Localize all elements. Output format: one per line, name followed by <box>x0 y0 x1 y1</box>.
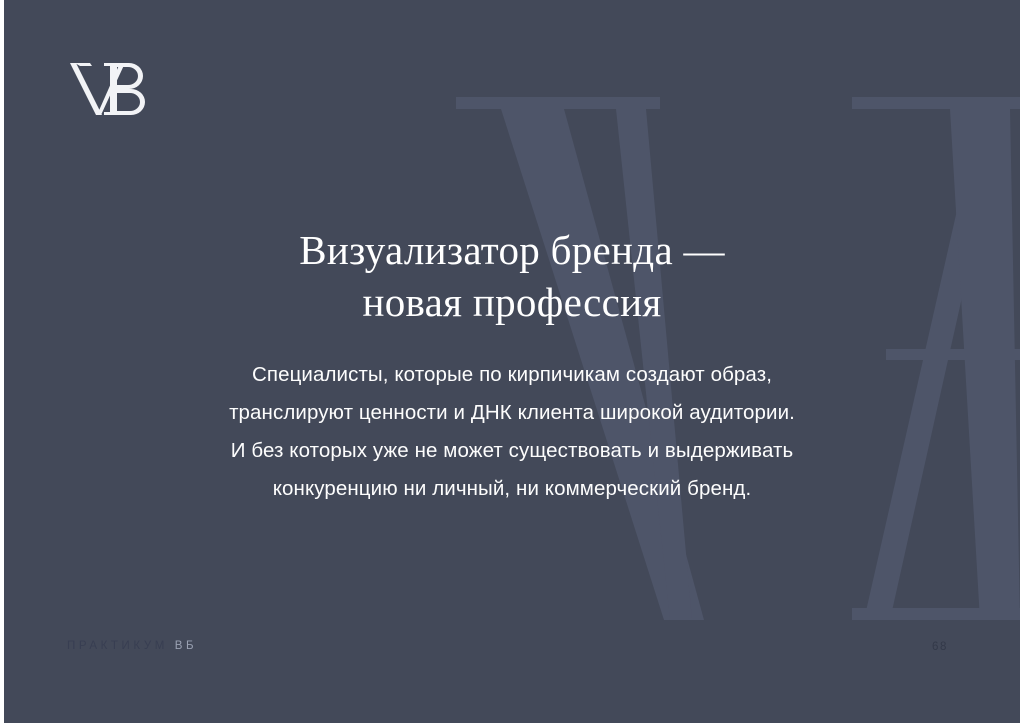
slide-body-text: Специалисты, которые по кирпичикам созда… <box>4 356 1020 508</box>
footer-brand-accent: ВБ <box>175 640 197 652</box>
brand-logo-vb-icon <box>66 58 186 120</box>
slide-title: Визуализатор бренда — новая профессия <box>4 224 1020 328</box>
footer-brand-main: ПРАКТИКУМ <box>67 640 168 652</box>
footer-brand: ПРАКТИКУМ ВБ <box>67 640 197 652</box>
page-number: 68 <box>932 641 948 653</box>
slide-canvas: Визуализатор бренда — новая профессия Сп… <box>4 0 1020 723</box>
